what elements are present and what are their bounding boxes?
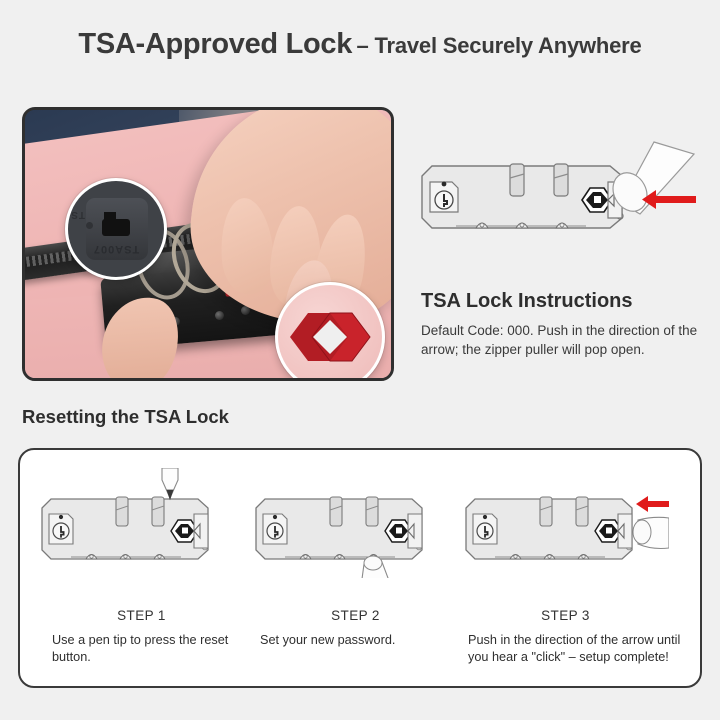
key-plate-dot xyxy=(442,182,447,187)
lock-push-diagram-svg xyxy=(418,130,700,260)
dial-slot xyxy=(554,164,568,196)
step-3-label: STEP 3 xyxy=(462,608,669,623)
page-title-main: TSA-Approved Lock xyxy=(78,28,352,60)
tsa-lock-diagram xyxy=(418,130,700,260)
instructions-title: TSA Lock Instructions xyxy=(421,290,633,313)
step-2-diagram xyxy=(252,468,459,578)
magnifier-tsa-logo xyxy=(275,282,385,381)
step-1-label: STEP 1 xyxy=(38,608,245,623)
tsa-side-label: TSA xyxy=(65,209,85,220)
push-button xyxy=(194,514,208,548)
step-2-caption: Set your new password. xyxy=(260,632,460,649)
dial-slot xyxy=(152,497,164,526)
tsa-red-diamond-icon xyxy=(288,311,372,363)
magnifier-keyhole: TSA007 TSA xyxy=(65,178,167,280)
page-header: TSA-Approved Lock – Travel Securely Anyw… xyxy=(0,28,720,61)
page-title-sub: – Travel Securely Anywhere xyxy=(357,33,642,58)
dial-slot xyxy=(510,164,524,196)
product-photo: TSA007 TSA xyxy=(22,107,394,381)
keyhole-icon xyxy=(102,219,130,236)
reset-steps-panel: STEP 1 xyxy=(18,448,702,688)
dial-slot xyxy=(366,497,378,526)
step-1-caption: Use a pen tip to press the reset button. xyxy=(52,632,252,666)
lock-screw xyxy=(215,311,224,320)
tsa-diamond-center xyxy=(594,196,601,203)
push-direction-arrow xyxy=(636,496,669,512)
step-1-diagram xyxy=(38,468,245,578)
dial-slot xyxy=(330,497,342,526)
key-plate-dot xyxy=(86,222,93,229)
tsa007-label: TSA007 xyxy=(80,243,152,255)
pen-tip-icon xyxy=(162,468,178,499)
dial-slot xyxy=(540,497,552,526)
steps-container: STEP 1 xyxy=(20,450,700,686)
instructions-body: Default Code: 000. Push in the direction… xyxy=(421,321,699,359)
step-2-label: STEP 2 xyxy=(252,608,459,623)
reset-step-1: STEP 1 xyxy=(38,468,245,603)
reset-step-3: STEP 3 xyxy=(462,468,669,603)
finger-icon xyxy=(633,517,669,548)
reset-section-title: Resetting the TSA Lock xyxy=(22,406,229,428)
dial-slot xyxy=(576,497,588,526)
push-button xyxy=(618,514,632,548)
step-3-caption: Push in the direction of the arrow until… xyxy=(468,632,686,666)
reset-step-2: STEP 2 xyxy=(252,468,459,603)
dial-slot xyxy=(116,497,128,526)
push-button xyxy=(408,514,422,548)
step-3-diagram xyxy=(462,468,669,578)
